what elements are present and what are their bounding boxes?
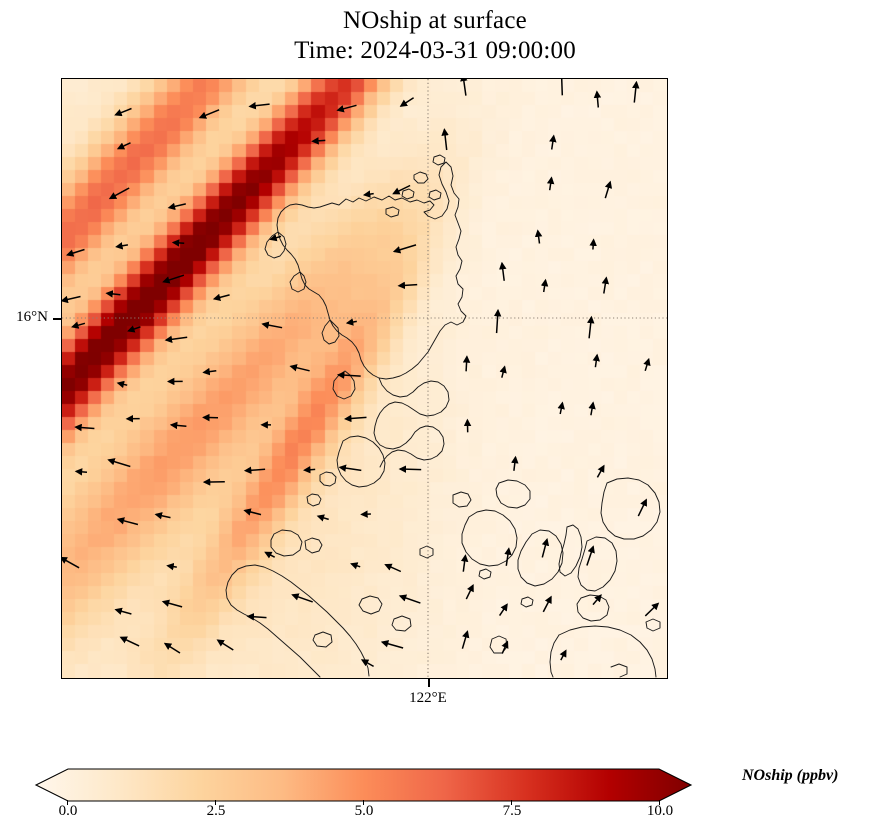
wind-vector [347, 321, 357, 323]
wind-vector [62, 297, 81, 301]
lon-tick-label-122E: 122°E [388, 690, 468, 707]
wind-vector [73, 323, 85, 327]
wind-vector [313, 140, 326, 141]
wind-vector [171, 425, 186, 426]
wind-vector [169, 204, 186, 208]
wind-vector [562, 78, 563, 95]
colorbar-tick-4: 10.0 [630, 803, 690, 820]
wind-vector [173, 243, 184, 244]
lon-tickmark [428, 679, 430, 687]
wind-vector [110, 188, 129, 198]
wind-vector [76, 427, 95, 428]
wind-vector [561, 651, 566, 660]
colorbar-tick-1: 2.5 [186, 803, 246, 820]
wind-vector [466, 357, 467, 372]
colorbar[interactable]: 0.0 2.5 5.0 7.5 10.0 [0, 755, 870, 836]
wind-vector [502, 642, 507, 654]
wind-vector [117, 245, 128, 247]
wind-vector [67, 250, 84, 255]
colorbar-tick-2: 5.0 [334, 803, 394, 820]
wind-vector [497, 310, 498, 333]
wind-vector [463, 78, 466, 96]
wind-vector [165, 644, 180, 653]
wind-vector [338, 375, 360, 376]
wind-vector [245, 469, 265, 470]
wind-vector [593, 595, 601, 604]
wind-vector [293, 595, 313, 602]
wind-vector [645, 359, 649, 371]
wind-vector [386, 565, 401, 572]
wind-vector [245, 511, 261, 515]
wind-vector [514, 457, 516, 471]
wind-vector [121, 637, 139, 646]
colorbar-gradient[interactable] [36, 769, 691, 801]
wind-vector [382, 642, 403, 648]
wind-vector [352, 564, 361, 567]
wind-vector [638, 500, 646, 516]
wind-vector [394, 245, 416, 252]
wind-vector [394, 186, 411, 194]
wind-vector [263, 324, 282, 328]
wind-vector [364, 194, 373, 195]
wind-vector [118, 383, 127, 385]
wind-vector [552, 136, 554, 150]
wind-vector [502, 263, 504, 281]
wind-vector [118, 143, 130, 149]
wind-vector [466, 585, 473, 599]
wind-vector [543, 597, 551, 612]
lat-tick-label-16N: 16°N [0, 309, 48, 326]
map-plot-area[interactable] [61, 78, 668, 679]
wind-vector [305, 469, 316, 470]
wind-vector [591, 403, 593, 415]
lat-tickmark [53, 318, 61, 320]
wind-vector [248, 616, 267, 617]
wind-vector [107, 293, 121, 294]
wind-vector [168, 566, 177, 567]
wind-vector [400, 596, 420, 603]
wind-vector [204, 371, 217, 373]
wind-vector [500, 605, 507, 616]
wind-vector [109, 460, 131, 467]
wind-vector [318, 516, 329, 519]
wind-vector [401, 98, 414, 106]
wind-vector [605, 182, 610, 198]
wind-vector [156, 515, 171, 518]
wind-vector [362, 660, 373, 666]
wind-vector [164, 275, 184, 282]
wind-vector [250, 104, 270, 106]
wind-vector [444, 130, 446, 150]
wind-vector [589, 317, 591, 338]
wind-vector [597, 92, 598, 108]
wind-vector [506, 549, 509, 566]
page-title: NOship at surface Time: 2024-03-31 09:00… [0, 6, 870, 66]
wind-vector [340, 467, 361, 470]
wind-vector [116, 610, 131, 614]
wind-vector [634, 82, 636, 102]
wind-vector [595, 355, 597, 367]
wind-vector [550, 178, 552, 190]
wind-vector [560, 403, 562, 414]
wind-vector [502, 367, 505, 378]
wind-vector [218, 640, 234, 650]
colorbar-body[interactable] [36, 769, 691, 801]
wind-vector [291, 366, 310, 371]
wind-vector [271, 236, 281, 239]
wind-vector [463, 556, 465, 572]
wind-vector [400, 469, 421, 470]
wind-vector-overlay [62, 79, 667, 678]
wind-vector [544, 280, 546, 292]
wind-vector [76, 471, 87, 472]
wind-vector [163, 602, 182, 607]
title-line-time: Time: 2024-03-31 09:00:00 [0, 36, 870, 66]
wind-vector [214, 295, 229, 299]
colorbar-tick-3: 7.5 [482, 803, 542, 820]
wind-vector [645, 604, 658, 616]
wind-vector [338, 105, 357, 110]
wind-vector [116, 109, 132, 115]
wind-vector [346, 417, 367, 419]
wind-vector [118, 519, 138, 524]
wind-vector [399, 285, 417, 286]
wind-vector [542, 540, 547, 558]
wind-vector [61, 558, 79, 568]
wind-vector [587, 547, 593, 566]
colorbar-tick-0: 0.0 [38, 803, 98, 820]
wind-vector [597, 466, 603, 478]
wind-vector [266, 552, 275, 557]
wind-vector [200, 110, 219, 118]
wind-vector [129, 327, 141, 331]
colorbar-axis-label: NOship (ppbv) [742, 765, 870, 787]
wind-vector [593, 240, 594, 250]
title-line-variable: NOship at surface [0, 6, 870, 36]
wind-vector [462, 632, 467, 649]
wind-vector [604, 278, 607, 294]
wind-vector [538, 231, 540, 244]
wind-vector [166, 337, 187, 340]
